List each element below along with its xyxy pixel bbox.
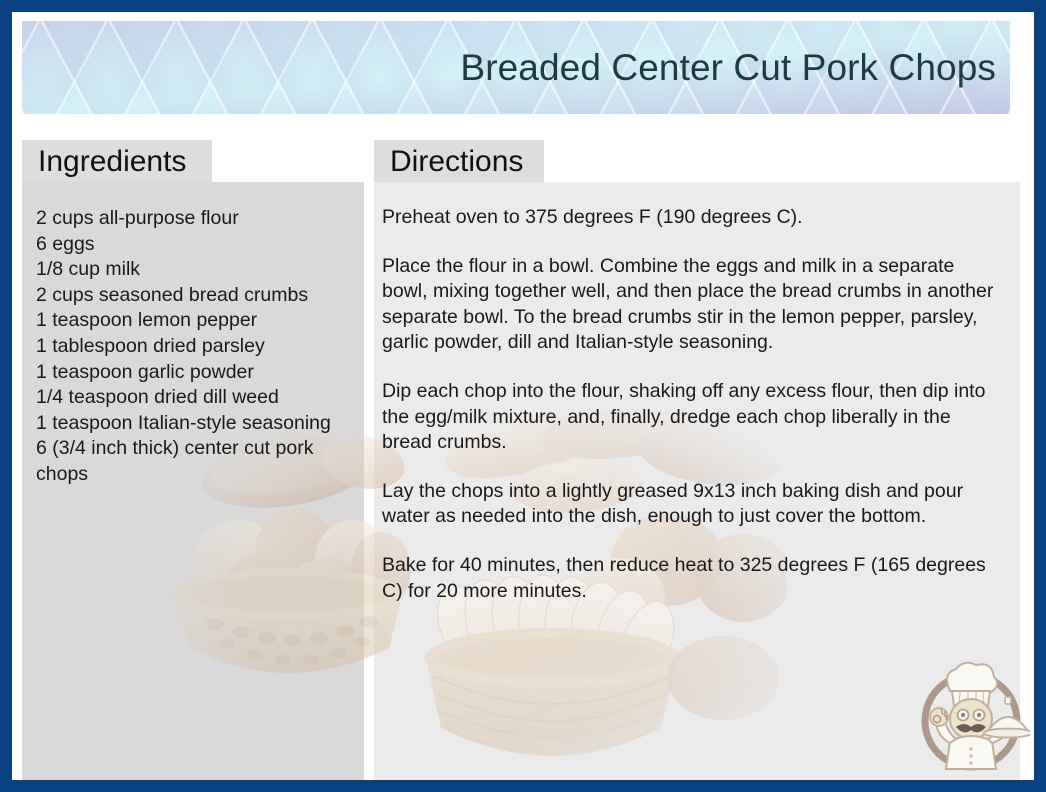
list-item: 1 teaspoon garlic powder: [36, 360, 354, 386]
directions-panel: Preheat oven to 375 degrees F (190 degre…: [374, 182, 1020, 780]
recipe-card-inner: Breaded Center Cut Pork Chops Ingredient…: [12, 12, 1034, 780]
list-item: 2 cups all-purpose flour: [36, 206, 354, 232]
ingredients-list: 2 cups all-purpose flour 6 eggs 1/8 cup …: [22, 182, 364, 488]
recipe-card: Breaded Center Cut Pork Chops Ingredient…: [0, 0, 1046, 792]
direction-step: Dip each chop into the flour, shaking of…: [382, 379, 1002, 456]
direction-step: Preheat oven to 375 degrees F (190 degre…: [382, 205, 1002, 231]
directions-heading-tab: Directions: [374, 140, 544, 182]
ingredients-heading-tab: Ingredients: [22, 140, 212, 182]
directions-steps: Preheat oven to 375 degrees F (190 degre…: [374, 182, 1020, 604]
ingredients-panel: 2 cups all-purpose flour 6 eggs 1/8 cup …: [22, 182, 364, 780]
list-item: 1 teaspoon lemon pepper: [36, 308, 354, 334]
list-item: 1 teaspoon Italian-style seasoning: [36, 411, 354, 437]
list-item: 1 tablespoon dried parsley: [36, 334, 354, 360]
header-banner: Breaded Center Cut Pork Chops: [22, 21, 1010, 114]
list-item: 2 cups seasoned bread crumbs: [36, 283, 354, 309]
list-item: 1/4 teaspoon dried dill weed: [36, 385, 354, 411]
page-title: Breaded Center Cut Pork Chops: [460, 47, 996, 89]
direction-step: Place the flour in a bowl. Combine the e…: [382, 254, 1002, 356]
list-item: 6 eggs: [36, 232, 354, 258]
direction-step: Lay the chops into a lightly greased 9x1…: [382, 479, 1002, 530]
direction-step: Bake for 40 minutes, then reduce heat to…: [382, 553, 1002, 604]
list-item: 6 (3/4 inch thick) center cut pork chops: [36, 436, 354, 487]
list-item: 1/8 cup milk: [36, 257, 354, 283]
